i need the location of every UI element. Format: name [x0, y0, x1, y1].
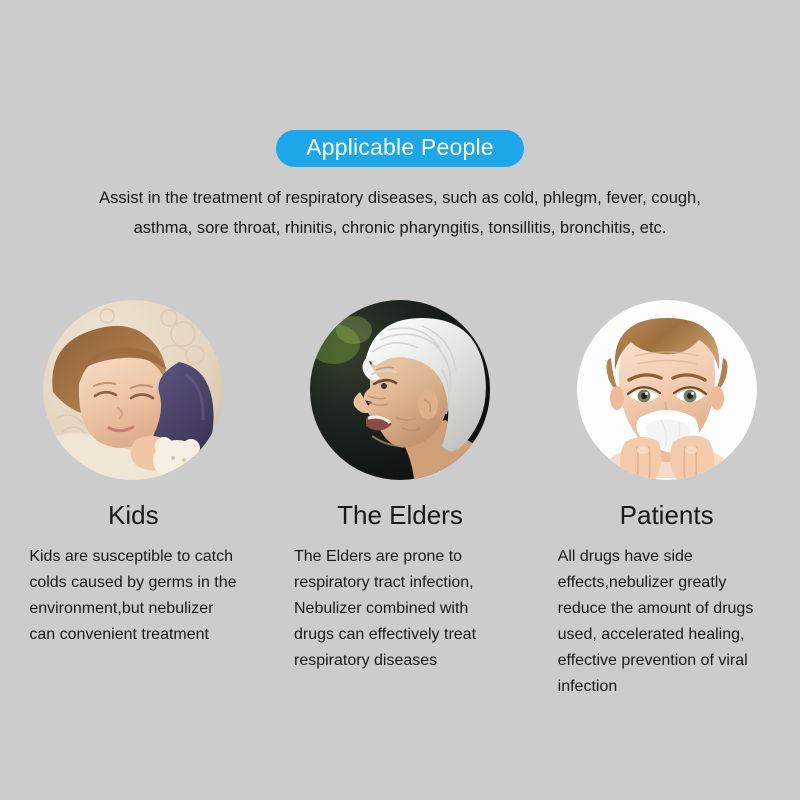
intro-line-2: asthma, sore throat, rhinitis, chronic p… — [60, 213, 740, 243]
column-title-kids: Kids — [108, 500, 159, 530]
column-title-the-elders: The Elders — [337, 500, 463, 530]
column-title-patients: Patients — [620, 500, 714, 530]
column-patients: Patients All drugs have side effects,neb… — [533, 300, 800, 700]
elderly-woman-photo — [310, 300, 490, 480]
applicable-people-columns: Kids Kids are susceptible to catch colds… — [0, 300, 800, 700]
column-kids: Kids Kids are susceptible to catch colds… — [0, 300, 267, 700]
badge-row: Applicable People — [0, 130, 800, 167]
intro-paragraph: Assist in the treatment of respiratory d… — [60, 183, 740, 243]
sleeping-child-photo — [43, 300, 223, 480]
woman-with-tissue-photo — [577, 300, 757, 480]
column-body-patients: All drugs have side effects,nebulizer gr… — [558, 544, 776, 700]
column-the-elders: The Elders The Elders are prone to respi… — [267, 300, 534, 700]
section-badge-applicable-people: Applicable People — [276, 130, 524, 167]
column-body-kids: Kids are susceptible to catch colds caus… — [29, 544, 237, 648]
column-body-the-elders: The Elders are prone to respiratory trac… — [294, 544, 506, 674]
intro-line-1: Assist in the treatment of respiratory d… — [60, 183, 740, 213]
